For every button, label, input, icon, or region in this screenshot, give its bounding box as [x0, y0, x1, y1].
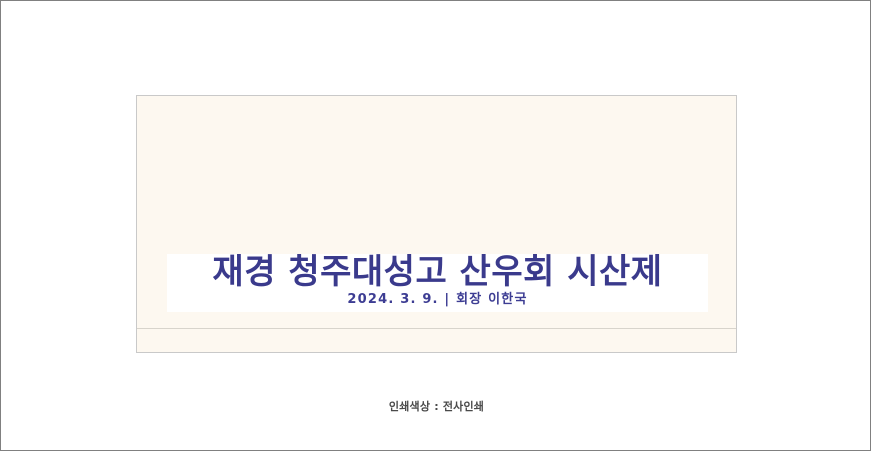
title-band: 재경 청주대성고 산우회 시산제 2024. 3. 9. | 회장 이한국 [167, 254, 708, 312]
banner-artwork[interactable]: 재경 청주대성고 산우회 시산제 2024. 3. 9. | 회장 이한국 [136, 95, 737, 353]
page-frame: 재경 청주대성고 산우회 시산제 2024. 3. 9. | 회장 이한국 인쇄… [0, 0, 871, 451]
banner-subtitle: 2024. 3. 9. | 회장 이한국 [167, 291, 708, 308]
banner-gap [137, 312, 736, 328]
banner-upper-field [137, 96, 736, 254]
banner-title: 재경 청주대성고 산우회 시산제 [167, 254, 708, 291]
banner-footer-strip [137, 329, 736, 352]
print-color-caption: 인쇄색상 : 전사인쇄 [1, 399, 871, 415]
